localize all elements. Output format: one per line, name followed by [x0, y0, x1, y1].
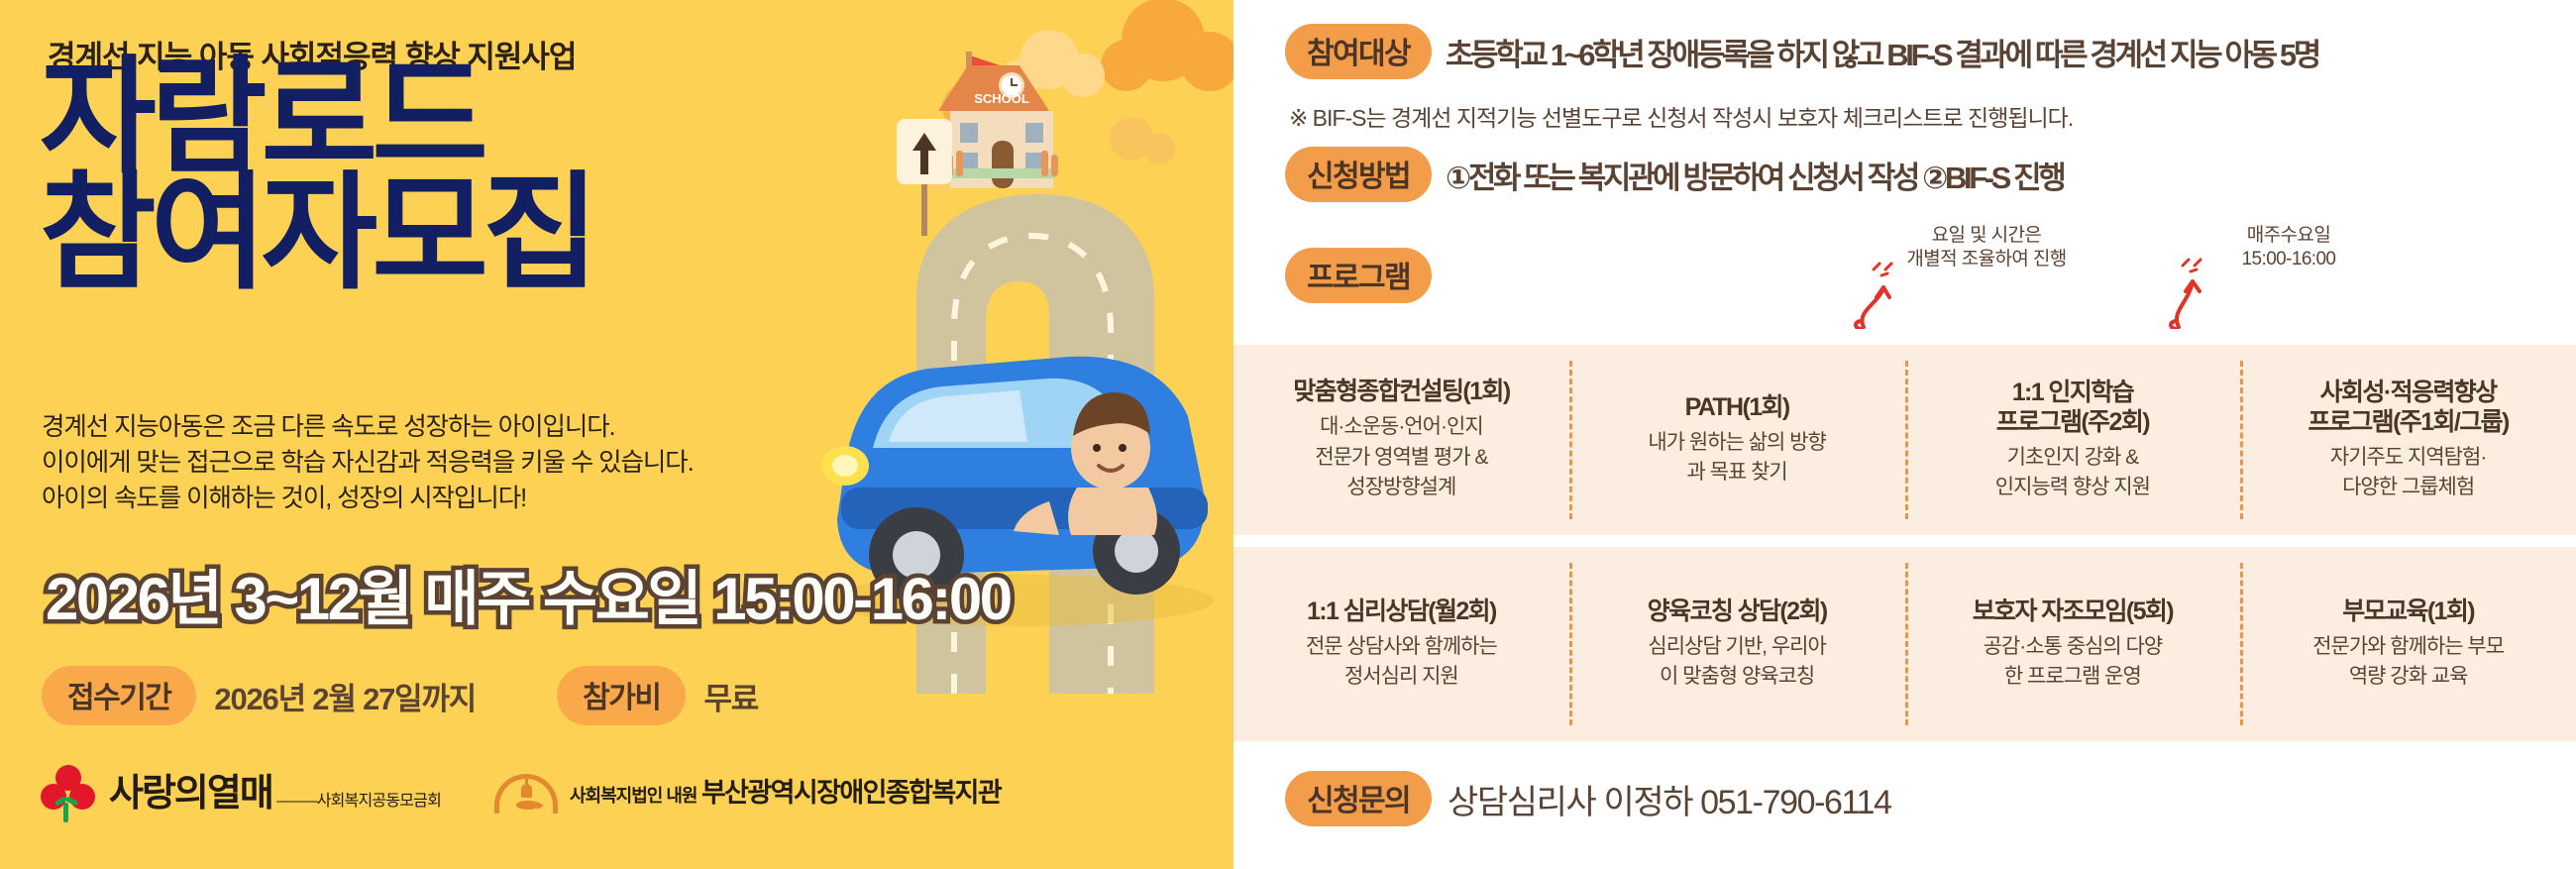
program-desc: 공감·소통 중심의 다양한 프로그램 운영: [1984, 632, 2163, 693]
lead-line-2: 이이에게 맞는 접근으로 학습 자신감과 적응력을 키울 수 있습니다.: [42, 445, 694, 481]
arrow-sign: [897, 119, 952, 236]
program-cell: 1:1 심리상담(월2회) 전문 상담사와 함께하는정서심리 지원: [1234, 547, 1569, 741]
badge-value-fee: 무료: [703, 674, 758, 718]
badge-label-application-period: 접수기간: [42, 666, 196, 725]
curved-arrow-icon-1: [1850, 260, 1905, 329]
lead-line-3: 아이의 속도를 이해하는 것이, 성장의 시작입니다!: [42, 481, 694, 516]
callout-1-line-1: 요일 및 시간은: [1858, 224, 2115, 248]
title-line-2: 참여자모집: [40, 171, 593, 295]
logo-busan-welfare-center: 사회복지법인 내원 부산광역시장애인종합복지관: [494, 770, 1001, 817]
program-desc: 심리상담 기반, 우리아이 맞춤형 양육코칭: [1648, 632, 1825, 693]
welfare-center-icon: [494, 770, 558, 817]
program-title: PATH(1회): [1685, 392, 1789, 422]
program-cell: 부모교육(1회) 전문가와 함께하는 부모역량 강화 교육: [2240, 547, 2576, 741]
left-badge-row: 접수기간 2026년 2월 27일까지 참가비 무료: [42, 666, 758, 725]
lead-line-1: 경계선 지능아동은 조금 다른 속도로 성장하는 아이입니다.: [42, 409, 694, 445]
logo-welfare-sub: 사회복지법인 내원: [570, 786, 697, 806]
poster-root: SCHOOL: [0, 0, 2576, 869]
lead-paragraph: 경계선 지능아동은 조금 다른 속도로 성장하는 아이입니다. 이이에게 맞는 …: [42, 409, 694, 517]
program-desc: 내가 원하는 삶의 방향과 목표 찾기: [1648, 428, 1825, 489]
logo-row: 사랑의열매 사회복지공동모금회 사회복지법인 내원 부산광역시장애인종합복지관: [40, 765, 1001, 822]
program-cell: 맞춤형종합컨설팅(1회) 대·소운동·언어·인지전문가 영역별 평가 &성장방향…: [1234, 345, 1569, 535]
program-title: 사회성·적응력향상프로그램(주1회/그룹): [2308, 378, 2508, 437]
program-cell: 사회성·적응력향상프로그램(주1회/그룹) 자기주도 지역탐험·다양한 그룹체험: [2240, 345, 2576, 535]
program-desc: 전문 상담사와 함께하는정서심리 지원: [1306, 632, 1497, 693]
program-title: 보호자 자조모임(5회): [1973, 597, 2173, 626]
program-title: 맞춤형종합컨설팅(1회): [1293, 377, 1509, 406]
note-bif-s: ※ BIF-S는 경계선 지적기능 선별도구로 신청서 작성시 보호자 체크리스…: [1289, 99, 2073, 133]
program-cell: 보호자 자조모임(5회) 공감·소통 중심의 다양한 프로그램 운영: [1905, 547, 2241, 741]
info-row-method: 신청방법 ①전화 또는 복지관에 방문하여 신청서 작성 ②BIF-S 진행: [1285, 147, 2063, 202]
value-method: ①전화 또는 복지관에 방문하여 신청서 작성 ②BIF-S 진행: [1446, 153, 2063, 197]
program-desc: 기초인지 강화 &인지능력 향상 지원: [1995, 443, 2150, 503]
callout-2-line-1: 매주수요일: [2175, 224, 2403, 248]
value-target: 초등학교 1~6학년 장애등록을 하지 않고 BIF-S 결과에 따른 경계선 …: [1446, 30, 2318, 74]
program-desc: 대·소운동·언어·인지전문가 영역별 평가 &성장방향설계: [1315, 412, 1487, 502]
program-desc: 전문가와 함께하는 부모역량 강화 교육: [2312, 632, 2504, 693]
program-table-row-2: 1:1 심리상담(월2회) 전문 상담사와 함께하는정서심리 지원 양육코칭 상…: [1234, 547, 2576, 741]
label-contact: 신청문의: [1285, 771, 1432, 826]
program-title: 양육코칭 상담(2회): [1648, 597, 1827, 626]
badge-label-fee: 참가비: [557, 666, 686, 725]
contact-row: 신청문의 상담심리사 이정하 051-790-6114: [1285, 771, 1891, 826]
fruit-of-love-icon: [40, 765, 97, 822]
program-cell: 1:1 인지학습프로그램(주2회) 기초인지 강화 &인지능력 향상 지원: [1905, 345, 2241, 535]
program-title: 부모교육(1회): [2342, 597, 2474, 626]
program-cell: 양육코칭 상담(2회) 심리상담 기반, 우리아이 맞춤형 양육코칭: [1569, 547, 1905, 741]
program-title: 1:1 인지학습프로그램(주2회): [1996, 378, 2149, 437]
program-cell: PATH(1회) 내가 원하는 삶의 방향과 목표 찾기: [1569, 345, 1905, 535]
label-method: 신청방법: [1285, 147, 1432, 202]
schedule-headline: 2026년 3~12월 매주 수요일 15:00-16:00: [46, 551, 1011, 637]
badge-value-application-period: 2026년 2월 27일까지: [214, 674, 476, 718]
label-program: 프로그램: [1285, 248, 1432, 303]
school-building: SCHOOL: [934, 52, 1058, 188]
logo-fruit-name: 사랑의열매: [109, 773, 272, 815]
program-desc: 자기주도 지역탐험·다양한 그룹체험: [2330, 443, 2486, 503]
left-yellow-panel: SCHOOL: [0, 0, 1234, 869]
curved-arrow-icon-2: [2163, 256, 2218, 329]
right-info-panel: 참여대상 초등학교 1~6학년 장애등록을 하지 않고 BIF-S 결과에 따른…: [1234, 0, 2576, 869]
cloud-shapes: [942, 0, 1234, 164]
logo-fruit-sub: 사회복지공동모금회: [276, 793, 441, 810]
label-target: 참여대상: [1285, 24, 1432, 79]
page-title: 자람로드 참여자모집: [40, 55, 593, 296]
info-row-target: 참여대상 초등학교 1~6학년 장애등록을 하지 않고 BIF-S 결과에 따른…: [1285, 24, 2318, 79]
logo-welfare-name: 부산광역시장애인종합복지관: [701, 778, 1001, 808]
value-contact: 상담심리사 이정하 051-790-6114: [1448, 775, 1891, 823]
logo-fruit-of-love: 사랑의열매 사회복지공동모금회: [40, 765, 441, 822]
info-row-program: 프로그램: [1285, 248, 1432, 303]
program-table-row-1: 맞춤형종합컨설팅(1회) 대·소운동·언어·인지전문가 영역별 평가 &성장방향…: [1234, 345, 2576, 535]
school-sign-text: SCHOOL: [974, 91, 1029, 106]
boy-driver: [1014, 392, 1157, 535]
program-title: 1:1 심리상담(월2회): [1307, 597, 1496, 626]
